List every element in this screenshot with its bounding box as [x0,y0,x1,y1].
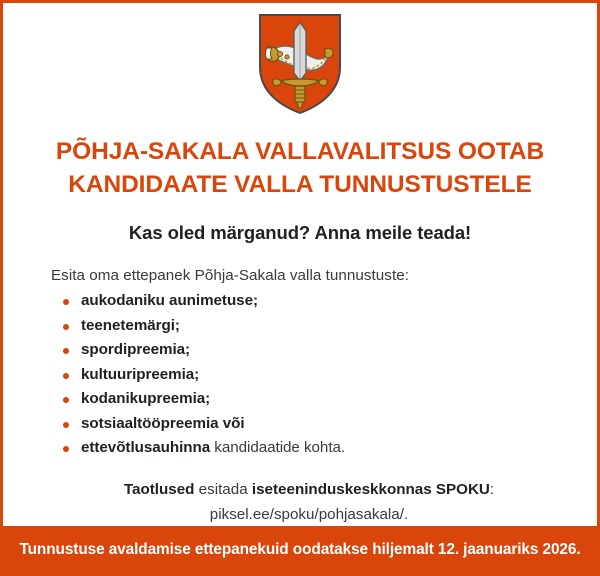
deadline-banner: Tunnustuse avaldamise ettepanekuid oodat… [3,526,597,573]
list-item: spordipreemia; [51,341,567,358]
deadline-text: Tunnustuse avaldamise ettepanekuid oodat… [19,541,580,559]
bullet-dot-icon [63,446,69,452]
bullet-dot-icon [63,299,69,305]
list-item: aukodaniku aunimetuse; [51,292,567,309]
bullet-dot-icon [63,422,69,428]
bullet-dot-icon [63,373,69,379]
crest-container [3,3,597,117]
list-item-label: kodanikupreemia; [81,390,210,407]
apply-instructions: Taotlused esitada iseteeninduskeskkonnas… [51,477,567,527]
list-item: ettevõtlusauhinna kandidaatide kohta. [51,439,567,456]
page-title: PÕHJA-SAKALA VALLAVALITSUS OOTAB KANDIDA… [3,135,597,201]
coat-of-arms-icon [254,11,346,117]
title-line-1: PÕHJA-SAKALA VALLAVALITSUS OOTAB [27,135,573,168]
subtitle: Kas oled märganud? Anna meile teada! [3,222,597,244]
list-item-label: sotsiaaltööpreemia või [81,415,245,432]
bullet-dot-icon [63,348,69,354]
apply-url[interactable]: piksel.ee/spoku/pohjasakala/. [210,506,408,523]
list-item-label: kultuuripreemia; [81,366,199,383]
apply-colon: : [490,481,494,498]
apply-mid-text: esitada [194,481,251,498]
apply-bold-spoku: iseteeninduskeskkonnas SPOKU [252,481,490,498]
poster: PÕHJA-SAKALA VALLAVALITSUS OOTAB KANDIDA… [0,0,600,576]
list-item: sotsiaaltööpreemia või [51,415,567,432]
awards-list: aukodaniku aunimetuse; teenetemärgi; spo… [51,292,567,456]
bullet-dot-icon [63,397,69,403]
body-block: Esita oma ettepanek Põhja-Sakala valla t… [3,267,597,527]
list-item-label: ettevõtlusauhinna [81,439,210,456]
title-line-2: KANDIDAATE VALLA TUNNUSTUSTELE [27,168,573,201]
list-item-label: aukodaniku aunimetuse; [81,292,258,309]
list-item: kodanikupreemia; [51,390,567,407]
intro-text: Esita oma ettepanek Põhja-Sakala valla t… [51,267,567,284]
bullet-dot-icon [63,324,69,330]
list-item: kultuuripreemia; [51,366,567,383]
list-item-label: teenetemärgi; [81,317,180,334]
list-item-tail: kandidaatide kohta. [210,439,345,456]
apply-bold-applications: Taotlused [124,481,195,498]
list-item: teenetemärgi; [51,317,567,334]
list-item-label: spordipreemia; [81,341,190,358]
